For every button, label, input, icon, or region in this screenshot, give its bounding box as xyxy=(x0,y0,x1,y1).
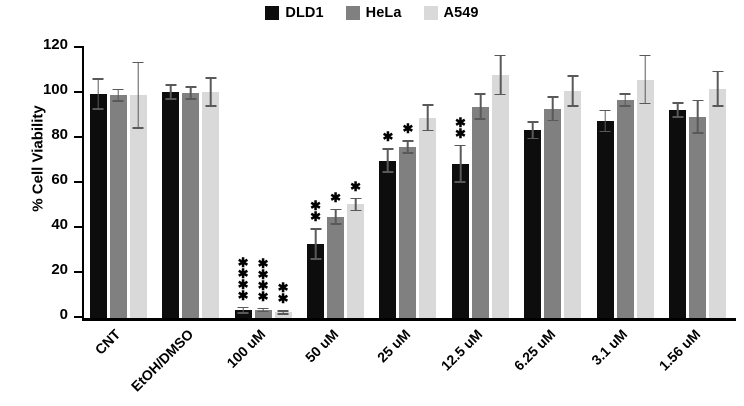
bar-dld1-25um[interactable]: ✱ xyxy=(379,48,396,318)
asterisk-icon: ✱ xyxy=(330,195,341,202)
error-bar-cap-bottom xyxy=(547,120,558,122)
bar-group: ✱✱✱✱ xyxy=(299,48,371,318)
x-axis-tick-label-cell: 1.56 uM xyxy=(662,322,734,402)
x-axis-tick-label-cell: 100 uM xyxy=(227,322,299,402)
error-bar-cap-top xyxy=(495,55,506,57)
x-axis-tick-label-text: 25 uM xyxy=(374,326,413,365)
error-bar-cap-top xyxy=(133,62,144,64)
bar-hela-6.25um[interactable] xyxy=(544,48,561,318)
y-axis-tick-label: 100 xyxy=(28,81,68,98)
bar-group: ✱✱ xyxy=(444,48,516,318)
bar-a549-3.1um[interactable] xyxy=(637,48,654,318)
error-bar-cap-bottom xyxy=(113,100,124,102)
legend-label: A549 xyxy=(444,6,479,21)
bar-group xyxy=(82,48,154,318)
bar-dld1-3.1um[interactable] xyxy=(597,48,614,318)
bar-rect xyxy=(90,94,107,318)
y-axis-tick: 120 xyxy=(74,46,82,48)
bar-rect xyxy=(452,164,469,318)
error-bar-cap-top xyxy=(310,228,321,230)
error-bar-cap-bottom xyxy=(712,105,723,107)
bar-rect xyxy=(669,110,686,318)
error-bar-line xyxy=(97,78,99,110)
error-bar-cap-bottom xyxy=(672,116,683,118)
error-bar-cap-bottom xyxy=(382,171,393,173)
error-bar xyxy=(238,307,249,314)
y-axis-tick-label: 80 xyxy=(28,126,68,143)
error-bar-cap-top xyxy=(620,93,631,95)
legend-swatch-icon xyxy=(346,6,360,20)
bar-a549-100um[interactable]: ✱✱ xyxy=(275,48,292,318)
x-axis-tick-label-cell: 3.1 uM xyxy=(589,322,661,402)
bar-group xyxy=(154,48,226,318)
error-bar-cap-top xyxy=(712,71,723,73)
x-axis-tick-label-text: 12.5 uM xyxy=(438,326,486,374)
bar-rect xyxy=(637,80,654,319)
bar-rect xyxy=(202,92,219,318)
bar-rect xyxy=(544,109,561,318)
error-bar-cap-bottom xyxy=(133,127,144,129)
error-bar-cap-bottom xyxy=(692,132,703,134)
error-bar-line xyxy=(137,62,139,130)
bar-hela-25um[interactable]: ✱ xyxy=(399,48,416,318)
bar-dld1-etohdmso[interactable] xyxy=(162,48,179,318)
error-bar-cap-top xyxy=(205,77,216,79)
x-axis-tick-label-cell: 12.5 uM xyxy=(444,322,516,402)
error-bar xyxy=(310,228,321,260)
bar-hela-1.56um[interactable] xyxy=(689,48,706,318)
x-axis-tick-label-cell: 25 uM xyxy=(372,322,444,402)
error-bar-line xyxy=(480,93,482,120)
bar-a549-6.25um[interactable] xyxy=(564,48,581,318)
error-bar-cap-bottom xyxy=(600,131,611,133)
bar-hela-100um[interactable]: ✱✱✱✱ xyxy=(255,48,272,318)
bar-groups: ✱✱✱✱✱✱✱✱✱✱✱✱✱✱✱✱✱✱ xyxy=(82,48,734,318)
bar-dld1-12.5um[interactable]: ✱✱ xyxy=(452,48,469,318)
asterisk-icon: ✱ xyxy=(310,214,321,221)
error-bar-cap-bottom xyxy=(640,103,651,105)
bar-group xyxy=(589,48,661,318)
error-bar-cap-top xyxy=(422,104,433,106)
bar-rect xyxy=(492,75,509,318)
error-bar xyxy=(495,55,506,96)
legend-entry-hela[interactable]: HeLa xyxy=(346,6,402,21)
bar-hela-50um[interactable]: ✱ xyxy=(327,48,344,318)
error-bar-line xyxy=(460,145,462,183)
error-bar-line xyxy=(387,148,389,173)
significance-stars: ✱ xyxy=(350,184,361,191)
error-bar xyxy=(712,71,723,107)
bar-rect xyxy=(564,91,581,318)
error-bar-line xyxy=(697,100,699,134)
asterisk-icon: ✱ xyxy=(403,126,414,133)
bar-rect xyxy=(709,89,726,319)
bar-a549-12.5um[interactable] xyxy=(492,48,509,318)
error-bar-cap-top xyxy=(600,110,611,112)
error-bar xyxy=(165,84,176,100)
error-bar xyxy=(640,55,651,105)
error-bar xyxy=(620,93,631,107)
error-bar-cap-top xyxy=(113,89,124,91)
bar-rect xyxy=(472,107,489,319)
bar-rect xyxy=(597,121,614,318)
error-bar-cap-top xyxy=(475,93,486,95)
bar-dld1-50um[interactable]: ✱✱ xyxy=(307,48,324,318)
error-bar-cap-bottom xyxy=(455,181,466,183)
error-bar xyxy=(113,89,124,103)
x-axis-tick-label-text: 50 uM xyxy=(301,326,340,365)
bar-chart-figure: DLD1HeLaA549 % Cell Viability 0204060801… xyxy=(0,0,744,406)
x-axis-tick-label-cell: EtOH/DMSO xyxy=(154,322,226,402)
bar-a549-etohdmso[interactable] xyxy=(202,48,219,318)
error-bar-line xyxy=(315,228,317,260)
bar-group: ✱✱ xyxy=(372,48,444,318)
y-axis-tick-label: 40 xyxy=(28,216,68,233)
error-bar xyxy=(527,121,538,139)
x-axis-tick-label-text: 1.56 uM xyxy=(655,326,703,374)
error-bar-cap-bottom xyxy=(402,152,413,154)
error-bar-cap-bottom xyxy=(310,258,321,260)
bar-a549-50um[interactable]: ✱ xyxy=(347,48,364,318)
error-bar xyxy=(692,100,703,134)
asterisk-icon: ✱ xyxy=(455,131,466,138)
error-bar-line xyxy=(427,104,429,131)
significance-stars: ✱✱ xyxy=(455,120,466,138)
error-bar-cap-top xyxy=(238,307,249,309)
error-bar xyxy=(93,78,104,110)
error-bar-cap-top xyxy=(93,78,104,80)
error-bar-cap-bottom xyxy=(495,94,506,96)
legend-label: HeLa xyxy=(366,6,402,21)
error-bar-cap-top xyxy=(185,86,196,88)
error-bar-cap-top xyxy=(692,100,703,102)
legend-swatch-icon xyxy=(265,6,279,20)
legend-swatch-icon xyxy=(424,6,438,20)
error-bar-cap-bottom xyxy=(238,312,249,314)
y-axis-tick: 0 xyxy=(74,316,82,318)
error-bar-cap-top xyxy=(382,148,393,150)
significance-stars: ✱ xyxy=(403,126,414,133)
error-bar-cap-top xyxy=(455,145,466,147)
error-bar xyxy=(547,96,558,121)
error-bar xyxy=(382,148,393,173)
error-bar-cap-bottom xyxy=(350,210,361,212)
error-bar-line xyxy=(552,96,554,121)
error-bar-cap-bottom xyxy=(258,311,269,313)
bar-a549-1.56um[interactable] xyxy=(709,48,726,318)
error-bar-cap-bottom xyxy=(205,105,216,107)
error-bar xyxy=(330,209,341,225)
x-axis-tick-label-text: CNT xyxy=(92,326,124,358)
error-bar-cap-bottom xyxy=(567,105,578,107)
bar-hela-3.1um[interactable] xyxy=(617,48,634,318)
bar-a549-cnt[interactable] xyxy=(130,48,147,318)
error-bar xyxy=(205,77,216,106)
error-bar-line xyxy=(604,110,606,133)
y-axis-tick-label: 20 xyxy=(28,261,68,278)
y-axis-tick: 40 xyxy=(74,226,82,228)
y-axis-tick-label: 120 xyxy=(28,36,68,53)
x-axis-tick-label-text: 6.25 uM xyxy=(511,326,559,374)
error-bar xyxy=(455,145,466,183)
error-bar-cap-top xyxy=(402,140,413,142)
error-bar xyxy=(133,62,144,130)
significance-stars: ✱ xyxy=(330,195,341,202)
error-bar xyxy=(185,86,196,100)
y-axis-tick-label: 60 xyxy=(28,171,68,188)
error-bar-cap-top xyxy=(165,84,176,86)
y-axis-tick-label: 0 xyxy=(28,306,68,323)
bar-rect xyxy=(379,161,396,319)
error-bar xyxy=(600,110,611,133)
error-bar-cap-top xyxy=(330,209,341,211)
significance-stars: ✱✱ xyxy=(310,203,321,221)
y-axis-tick: 100 xyxy=(74,91,82,93)
x-axis-tick-labels: CNTEtOH/DMSO100 uM50 uM25 uM12.5 uM6.25 … xyxy=(82,322,734,402)
legend-label: DLD1 xyxy=(285,6,323,21)
error-bar-cap-top xyxy=(640,55,651,57)
y-axis-tick: 80 xyxy=(74,136,82,138)
asterisk-icon: ✱ xyxy=(350,184,361,191)
error-bar-cap-bottom xyxy=(165,98,176,100)
bar-rect xyxy=(617,100,634,318)
x-axis-tick-label-cell: 50 uM xyxy=(299,322,371,402)
error-bar xyxy=(672,102,683,118)
bar-group xyxy=(517,48,589,318)
error-bar xyxy=(258,308,269,313)
x-axis-tick-label-text: 3.1 uM xyxy=(588,326,630,368)
legend-entry-dld1[interactable]: DLD1 xyxy=(265,6,323,21)
bar-hela-cnt[interactable] xyxy=(110,48,127,318)
error-bar-line xyxy=(572,75,574,107)
error-bar-cap-top xyxy=(527,121,538,123)
error-bar-line xyxy=(717,71,719,107)
error-bar-cap-bottom xyxy=(527,138,538,140)
error-bar-cap-bottom xyxy=(422,130,433,132)
x-axis-tick-label-cell: 6.25 uM xyxy=(517,322,589,402)
y-axis-tick: 60 xyxy=(74,181,82,183)
error-bar-cap-top xyxy=(258,308,269,310)
bar-rect xyxy=(524,130,541,318)
error-bar xyxy=(475,93,486,120)
x-axis-tick-label-text: 100 uM xyxy=(224,326,269,371)
asterisk-icon: ✱ xyxy=(258,294,269,301)
chart-legend: DLD1HeLaA549 xyxy=(0,6,744,21)
error-bar-line xyxy=(500,55,502,96)
error-bar-cap-top xyxy=(350,198,361,200)
error-bar-cap-bottom xyxy=(620,105,631,107)
legend-entry-a549[interactable]: A549 xyxy=(424,6,479,21)
bar-dld1-cnt[interactable] xyxy=(90,48,107,318)
error-bar xyxy=(402,140,413,154)
bar-rect xyxy=(182,93,199,318)
error-bar-cap-top xyxy=(672,102,683,104)
bar-hela-etohdmso[interactable] xyxy=(182,48,199,318)
error-bar-line xyxy=(644,55,646,105)
error-bar-cap-top xyxy=(567,75,578,77)
bar-hela-12.5um[interactable] xyxy=(472,48,489,318)
error-bar-cap-top xyxy=(547,96,558,98)
significance-stars: ✱✱✱✱ xyxy=(258,261,269,301)
y-axis-tick: 20 xyxy=(74,271,82,273)
bar-dld1-6.25um[interactable] xyxy=(524,48,541,318)
bar-rect xyxy=(689,117,706,318)
bar-group xyxy=(662,48,734,318)
bar-rect xyxy=(327,217,344,318)
bar-rect xyxy=(110,95,127,318)
error-bar-cap-bottom xyxy=(475,118,486,120)
error-bar-line xyxy=(210,77,212,106)
error-bar-cap-bottom xyxy=(185,98,196,100)
bar-dld1-1.56um[interactable] xyxy=(669,48,686,318)
error-bar-cap-bottom xyxy=(93,108,104,110)
error-bar-line xyxy=(532,121,534,139)
bar-a549-25um[interactable] xyxy=(419,48,436,318)
asterisk-icon: ✱ xyxy=(383,134,394,141)
error-bar xyxy=(350,198,361,212)
bar-rect xyxy=(419,118,436,318)
significance-stars: ✱ xyxy=(383,134,394,141)
error-bar xyxy=(422,104,433,131)
error-bar-cap-bottom xyxy=(330,223,341,225)
bar-rect xyxy=(162,92,179,318)
bar-rect xyxy=(399,147,416,318)
error-bar xyxy=(567,75,578,107)
